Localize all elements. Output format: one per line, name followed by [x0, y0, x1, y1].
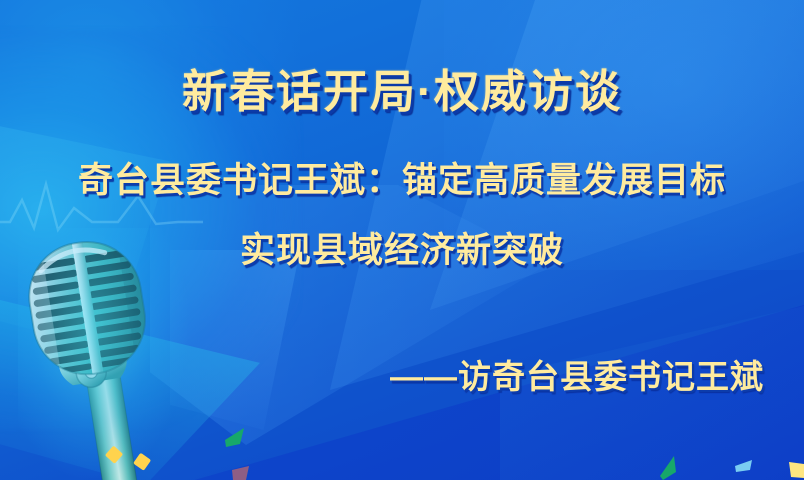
confetti-yellow-3 — [789, 462, 804, 478]
confetti-green-2 — [660, 456, 676, 480]
attribution-line: ——访奇台县委书记王斌 — [390, 350, 764, 398]
confetti-yellow-1 — [105, 446, 123, 464]
confetti-yellow-2 — [133, 453, 151, 471]
subtitle-line-2: 实现县域经济新突破 — [0, 222, 804, 273]
confetti-lightblue-1 — [735, 460, 752, 472]
interview-poster-banner: 新春话开局·权威访谈 奇台县委书记王斌：锚定高质量发展目标 实现县域经济新突破 … — [0, 0, 804, 480]
confetti-green-1 — [225, 428, 244, 447]
page-title: 新春话开局·权威访谈 — [0, 55, 804, 120]
confetti-purple-1 — [232, 466, 249, 480]
subtitle-line-1: 奇台县委书记王斌：锚定高质量发展目标 — [0, 152, 804, 203]
